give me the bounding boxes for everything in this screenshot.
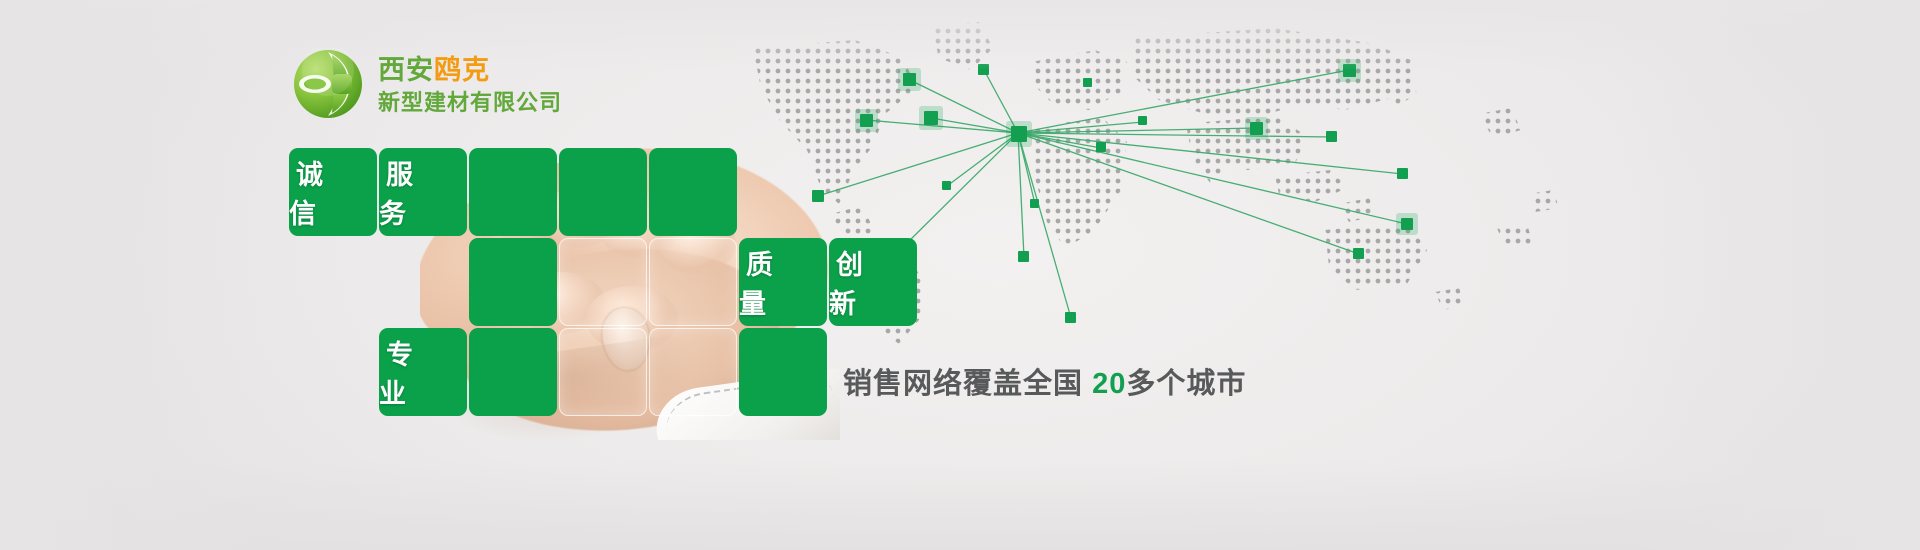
tile-label: 质 量 [739,238,827,326]
logo-brand-name: 鸥克 [434,55,490,85]
company-hero-banner: 诚 信服 务质 量创 新专 业 [0,0,1920,550]
mosaic-tile-5 [469,238,557,326]
value-tile-0[interactable]: 诚 信 [289,148,377,236]
value-tile-1[interactable]: 服 务 [379,148,467,236]
mosaic-tile-13 [649,328,737,416]
tile-mosaic: 诚 信服 务质 量创 新专 业 [0,0,1920,550]
mosaic-tile-7 [649,238,737,326]
tile-label: 诚 信 [289,148,377,236]
mosaic-tile-11 [469,328,557,416]
logo-line-1: 西安鸥克 [378,57,562,84]
tagline-city-count: 20 [1092,368,1126,400]
value-tile-9[interactable]: 创 新 [829,238,917,326]
tile-label: 服 务 [379,148,467,236]
mosaic-tile-4 [649,148,737,236]
tagline-prefix: 销售网络覆盖全国 [843,368,1083,400]
sales-network-tagline: 销售网络覆盖全国 20多个城市 [843,360,1246,402]
logo-line-2: 新型建材有限公司 [378,92,562,114]
value-tile-10[interactable]: 专 业 [379,328,467,416]
mosaic-tile-12 [559,328,647,416]
company-logo[interactable]: 西安鸥克 新型建材有限公司 [292,48,562,120]
mosaic-tile-3 [559,148,647,236]
logo-wordmark: 西安鸥克 新型建材有限公司 [378,55,562,114]
value-tile-8[interactable]: 质 量 [739,238,827,326]
tile-label: 专 业 [379,328,467,416]
tagline-suffix: 多个城市 [1126,368,1246,400]
mosaic-tile-2 [469,148,557,236]
mosaic-tile-14 [739,328,827,416]
mosaic-tile-6 [559,238,647,326]
logo-city-name: 西安 [378,55,434,85]
leaf-globe-emblem-icon [292,48,364,120]
tile-label: 创 新 [829,238,917,326]
